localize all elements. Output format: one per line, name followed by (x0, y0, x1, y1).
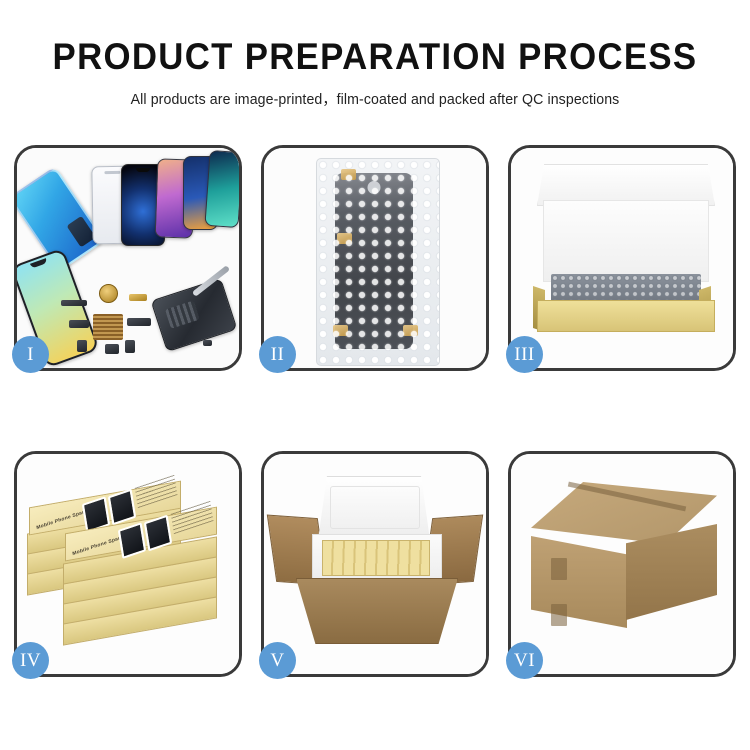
panel-badge-i: I (12, 336, 49, 373)
carton-front-panel (296, 578, 458, 644)
foam-box-lid (318, 476, 430, 540)
panel-badge-ii: II (259, 336, 296, 373)
panel-image-i (17, 148, 239, 368)
panel-image-ii (264, 148, 486, 368)
foam-sheet-image (543, 200, 709, 282)
screw-part (203, 340, 212, 346)
panel-image-v (264, 454, 486, 674)
box-front-panel (537, 300, 715, 332)
flex-cable-part (129, 294, 147, 301)
camera-module-part (127, 318, 151, 326)
stacked-boxes-photo: Mobile Phone Spare Parts Mobile Phone Sp… (17, 454, 239, 674)
page-subtitle: All products are image-printed，film-coat… (11, 88, 739, 109)
yellow-boxes-inside (322, 540, 430, 576)
panel-bubble-wrapped-screen[interactable]: II (261, 145, 489, 371)
bracket-part (69, 320, 89, 328)
sealed-carton-photo (511, 454, 733, 674)
speaker-coil-part (99, 284, 118, 303)
button-part (125, 340, 135, 353)
panel-badge-iv: IV (12, 642, 49, 679)
phone-teal-image (204, 150, 239, 228)
panel-foam-carton[interactable]: V (261, 451, 489, 677)
bubble-texture-overlay (317, 159, 439, 365)
panel-open-inner-box[interactable]: III (508, 145, 736, 371)
battery-connector-part (61, 300, 87, 306)
vibrator-part (105, 344, 119, 354)
panel-badge-iii: III (506, 336, 543, 373)
screw-tray-part (93, 314, 123, 340)
foam-carton-photo (264, 454, 486, 674)
page-title: PRODUCT PREPARATION PROCESS (23, 38, 728, 77)
product-parts-photo (17, 148, 239, 368)
panel-image-iii (511, 148, 733, 368)
carton-tab-lower (551, 604, 567, 626)
carton-tab-upper (551, 558, 567, 580)
panel-stacked-retail-boxes[interactable]: Mobile Phone Spare Parts Mobile Phone Sp… (14, 451, 242, 677)
bubble-bag-image (316, 158, 440, 366)
panel-products-and-parts[interactable]: I (14, 145, 242, 371)
open-inner-box-photo (511, 148, 733, 368)
panel-sealed-carton[interactable]: VI (508, 451, 736, 677)
bubble-wrap-photo (264, 148, 486, 368)
sim-tray-part (77, 340, 87, 352)
process-panel-grid: I II (14, 145, 736, 677)
page-header: PRODUCT PREPARATION PROCESS All products… (0, 0, 750, 109)
carton-left-face (531, 536, 627, 628)
panel-image-iv: Mobile Phone Spare Parts Mobile Phone Sp… (17, 454, 239, 674)
panel-badge-v: V (259, 642, 296, 679)
panel-badge-vi: VI (506, 642, 543, 679)
panel-image-vi (511, 454, 733, 674)
